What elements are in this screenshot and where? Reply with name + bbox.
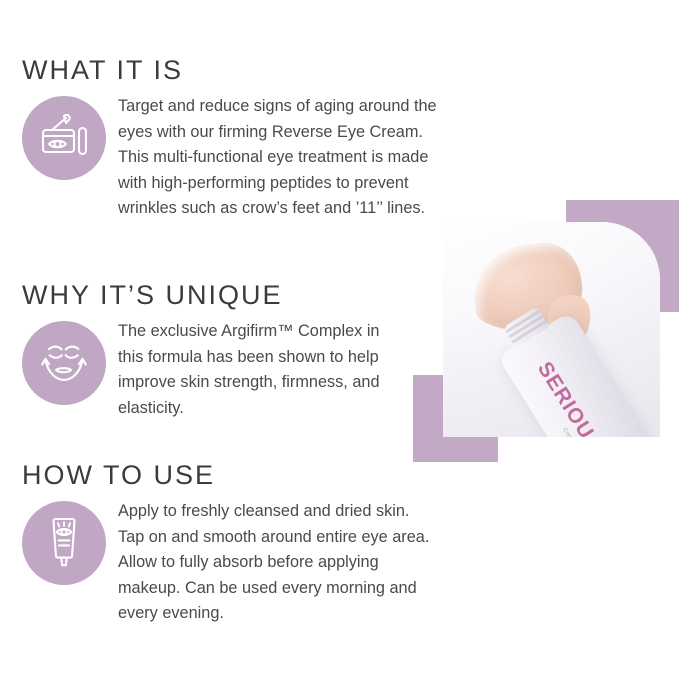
section-heading-how-to-use: HOW TO USE [22,460,438,491]
section-text-what-it-is: Target and reduce signs of aging around … [106,94,456,222]
section-heading-what-it-is: WHAT IT IS [22,55,456,86]
eye-cream-tube-icon [22,501,106,585]
product-photo: SERIOU Creme pour les yeux [443,222,660,437]
cream-jar-eye-icon [22,96,106,180]
infographic-page: SERIOU Creme pour les yeux WHAT IT IS [0,0,679,679]
section-body-why-unique: The exclusive Argifirm™ Complex in this … [22,319,408,421]
section-what-it-is: WHAT IT IS Target and red [22,55,456,222]
section-body-what-it-is: Target and reduce signs of aging around … [22,94,456,222]
product-brand-text: SERIOU [532,358,598,437]
section-text-why-unique: The exclusive Argifirm™ Complex in this … [106,319,408,421]
section-heading-why-unique: WHY IT’S UNIQUE [22,280,408,311]
section-body-how-to-use: Apply to freshly cleansed and dried skin… [22,499,438,627]
section-text-how-to-use: Apply to freshly cleansed and dried skin… [106,499,438,627]
face-lift-arrows-icon [22,321,106,405]
section-why-unique: WHY IT’S UNIQUE [22,280,408,421]
section-how-to-use: HOW TO USE [22,460,438,627]
product-photo-composition: SERIOU Creme pour les yeux [400,185,679,475]
